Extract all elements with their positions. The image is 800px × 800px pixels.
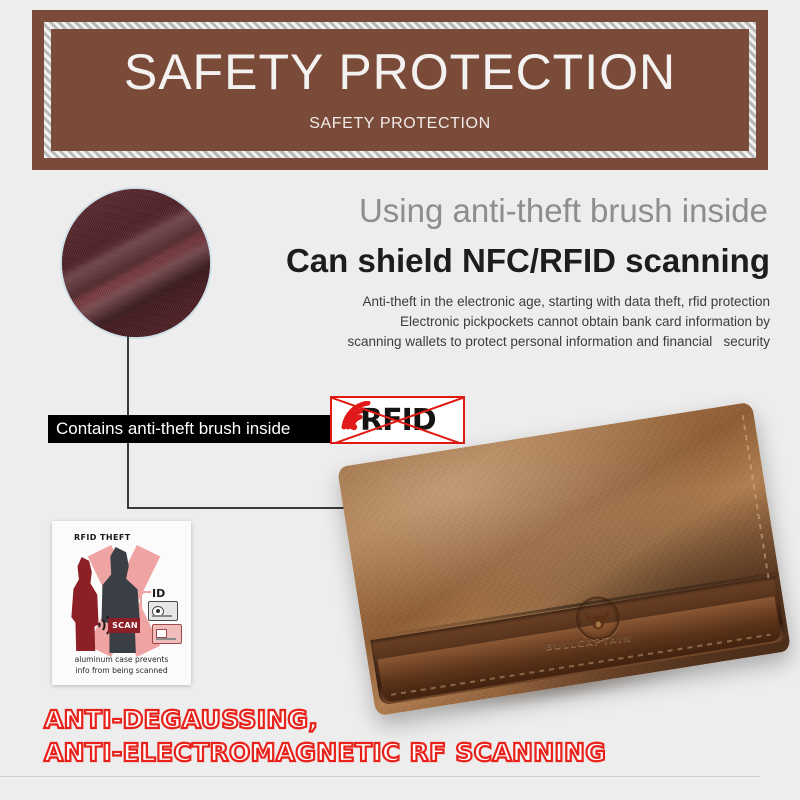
body-line-3: scanning wallets to protect personal inf…: [250, 332, 770, 352]
banner-content: SAFETY PROTECTION SAFETY PROTECTION: [51, 29, 749, 151]
fabric-swatch-circle: [60, 187, 212, 339]
card-caption-line-2: info from being scanned: [52, 666, 191, 677]
bank-card-icon: [152, 624, 182, 644]
bull-head-glyph: [580, 605, 617, 634]
card-caption-line-1: aluminum case prevents: [52, 655, 191, 666]
header-banner: SAFETY PROTECTION SAFETY PROTECTION: [32, 10, 768, 170]
bottom-text-line-1: ANTI-DEGAUSSING,: [44, 703, 606, 736]
card-stripe: [156, 638, 176, 640]
id-label: ID: [152, 587, 165, 600]
product-infographic: SAFETY PROTECTION SAFETY PROTECTION Usin…: [0, 0, 800, 800]
callout-label-bar: Contains anti-theft brush inside: [48, 415, 333, 443]
chip-icon: [156, 629, 167, 638]
wallet-product-photo: BULLCAPTAIN: [338, 415, 800, 745]
body-paragraph: Anti-theft in the electronic age, starti…: [250, 292, 770, 352]
banner-hatched-frame: SAFETY PROTECTION SAFETY PROTECTION: [44, 22, 756, 158]
rfid-theft-card: RFID THEFT SCAN ID aluminum case prevent…: [52, 521, 191, 685]
scan-badge: SCAN: [108, 618, 142, 633]
bottom-feature-text: ANTI-DEGAUSSING, ANTI-ELECTROMAGNETIC RF…: [44, 703, 606, 769]
bottom-divider: [0, 776, 760, 777]
card-caption: aluminum case prevents info from being s…: [52, 655, 191, 676]
card-stripe: [152, 615, 172, 617]
banner-title: SAFETY PROTECTION: [124, 47, 676, 97]
id-card-icon: [148, 601, 178, 621]
heading-light: Using anti-theft brush inside: [268, 192, 768, 230]
body-line-1: Anti-theft in the electronic age, starti…: [250, 292, 770, 312]
bottom-text-line-2: ANTI-ELECTROMAGNETIC RF SCANNING: [44, 736, 606, 769]
body-line-2: Electronic pickpockets cannot obtain ban…: [250, 312, 770, 332]
card-title: RFID THEFT: [74, 533, 131, 542]
heading-bold: Can shield NFC/RFID scanning: [218, 242, 770, 280]
banner-subtitle: SAFETY PROTECTION: [309, 115, 490, 133]
